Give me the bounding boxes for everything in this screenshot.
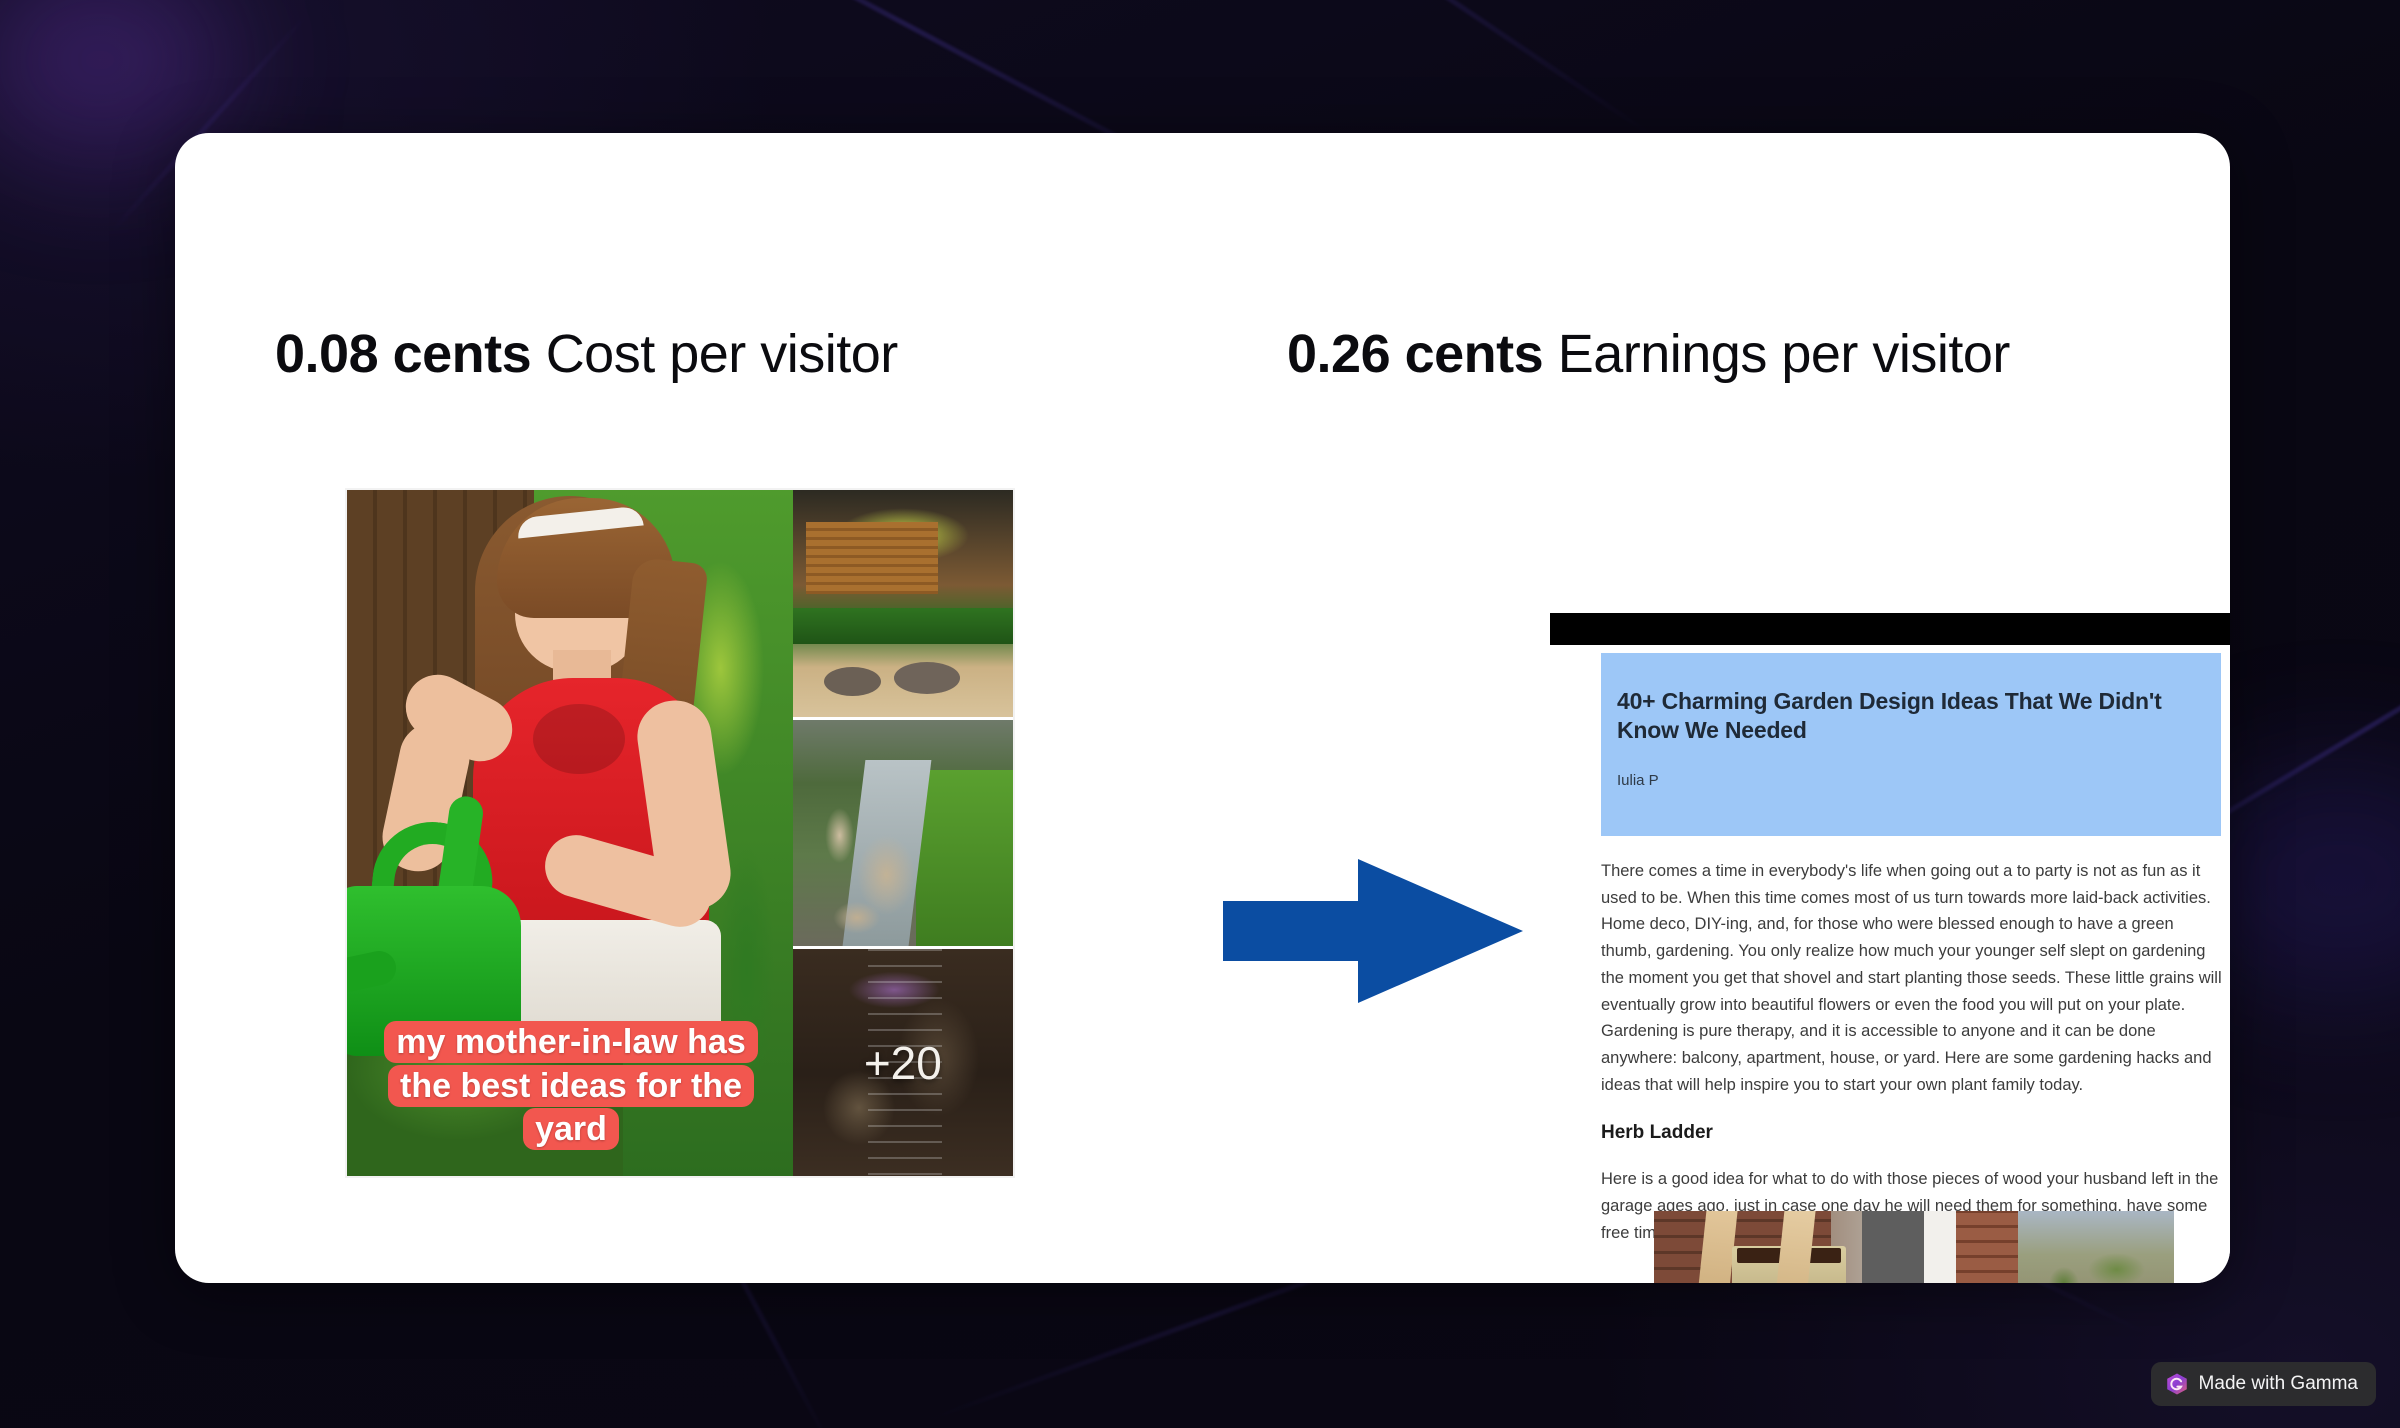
made-with-gamma-badge[interactable]: Made with Gamma	[2151, 1362, 2376, 1406]
article-hero: 40+ Charming Garden Design Ideas That We…	[1601, 653, 2221, 836]
left-stat-label: Cost per visitor	[546, 324, 898, 384]
thumb-hedge	[793, 608, 1013, 644]
photo-doorway	[1862, 1211, 1924, 1283]
right-stat-heading: 0.26 cents Earnings per visitor	[1287, 323, 2010, 385]
article-subheading: Herb Ladder	[1601, 1122, 2226, 1144]
article-byline: Iulia P	[1617, 772, 2205, 789]
article-photo	[1654, 1211, 2174, 1283]
thumb-wood-wall	[806, 522, 938, 595]
article-body: There comes a time in everybody's life w…	[1601, 858, 2226, 1247]
article-screenshot: 40+ Charming Garden Design Ideas That We…	[1550, 603, 2230, 1283]
right-stat-label: Earnings per visitor	[1558, 324, 2010, 384]
collage-thumbnail	[793, 490, 1013, 717]
collage-thumbnail	[793, 720, 1013, 947]
collage-main-photo: my mother-in-law has the best ideas for …	[347, 490, 793, 1176]
left-stat-amount: 0.08 cents	[275, 324, 531, 384]
right-stat-amount: 0.26 cents	[1287, 324, 1543, 384]
article-paragraph-1: There comes a time in everybody's life w…	[1601, 858, 2226, 1098]
collage-caption-text: my mother-in-law has the best ideas for …	[384, 1021, 758, 1150]
article-title: 40+ Charming Garden Design Ideas That We…	[1617, 687, 2205, 746]
pin-collage: my mother-in-law has the best ideas for …	[345, 488, 1015, 1178]
more-photos-count: +20	[793, 949, 1013, 1176]
collage-thumbnail-more[interactable]: +20	[793, 949, 1013, 1176]
made-with-gamma-label: Made with Gamma	[2199, 1373, 2358, 1395]
photo-plants	[2039, 1242, 2164, 1283]
backdrop-streak	[1223, 0, 1657, 140]
left-stat-heading: 0.08 cents Cost per visitor	[275, 323, 898, 385]
thumb-rocks	[815, 788, 938, 947]
collage-caption: my mother-in-law has the best ideas for …	[369, 1021, 773, 1152]
photo-person-top-shading	[533, 704, 625, 774]
collage-thumbnail-column: +20	[793, 490, 1013, 1176]
slide-card: 0.08 cents Cost per visitor 0.26 cents E…	[175, 133, 2230, 1283]
photo-brick-wall	[1956, 1211, 2018, 1283]
thumb-boulder	[894, 662, 960, 694]
right-arrow-icon	[1223, 851, 1523, 1011]
gamma-logo-icon	[2165, 1372, 2189, 1396]
photo-door-frame	[1924, 1211, 1955, 1283]
article-top-bar	[1550, 613, 2230, 645]
thumb-boulder	[824, 667, 881, 696]
